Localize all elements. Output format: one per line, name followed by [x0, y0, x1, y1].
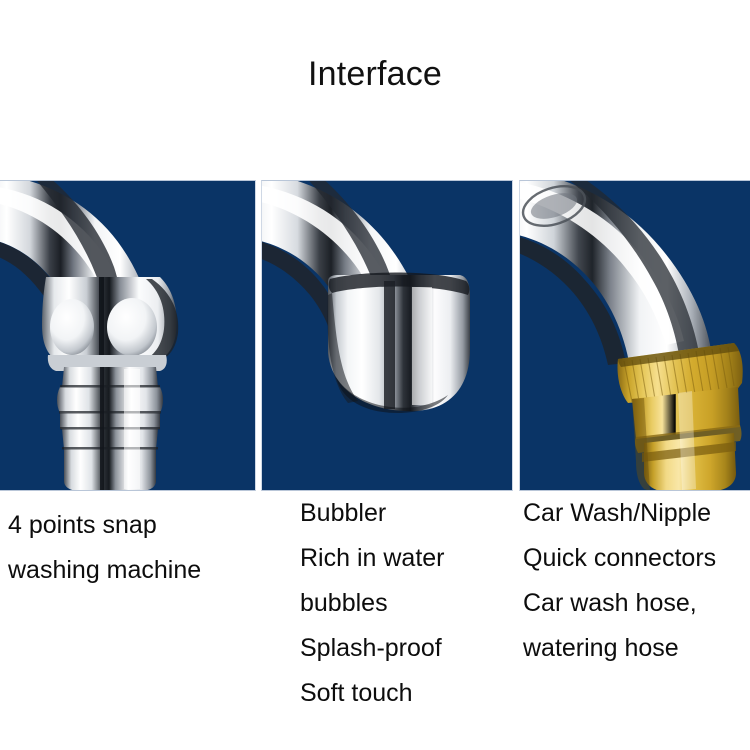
caption-line: washing machine — [8, 548, 258, 593]
product-panel-4-points-snap — [0, 180, 256, 491]
caption-line: Car wash hose, — [523, 581, 750, 626]
caption-line: 4 points snap — [8, 503, 258, 548]
panel-2-image — [262, 181, 512, 490]
page-title: Interface — [0, 55, 750, 94]
caption-line: bubbles — [300, 581, 515, 626]
caption-line: Bubbler — [300, 491, 515, 536]
caption-car-wash-nipple: Car Wash/Nipple Quick connectors Car was… — [523, 491, 750, 671]
caption-line: Splash-proof — [300, 626, 515, 671]
caption-line: Soft touch — [300, 671, 515, 716]
snap-point-bump — [107, 298, 157, 356]
caption-line: Car Wash/Nipple — [523, 491, 750, 536]
faucet-bubbler-illustration — [262, 181, 513, 491]
caption-4-points-snap: 4 points snap washing machine — [8, 503, 258, 593]
product-infographic: Interface — [0, 0, 750, 750]
caption-line: watering hose — [523, 626, 750, 671]
caption-bubbler: Bubbler Rich in water bubbles Splash-pro… — [300, 491, 515, 716]
product-panel-bubbler — [261, 180, 513, 491]
caption-line: Quick connectors — [523, 536, 750, 581]
faucet-brass-quick-connector-illustration — [520, 181, 750, 491]
panel-strip — [0, 180, 750, 491]
panel-3-image — [520, 181, 750, 490]
snap-point-bump — [50, 299, 94, 355]
product-panel-car-wash-nipple — [519, 180, 750, 491]
caption-row: 4 points snap washing machine Bubbler Ri… — [0, 491, 750, 750]
panel-1-image — [0, 181, 255, 490]
caption-line: Rich in water — [300, 536, 515, 581]
faucet-snap-adapter-illustration — [0, 181, 256, 491]
